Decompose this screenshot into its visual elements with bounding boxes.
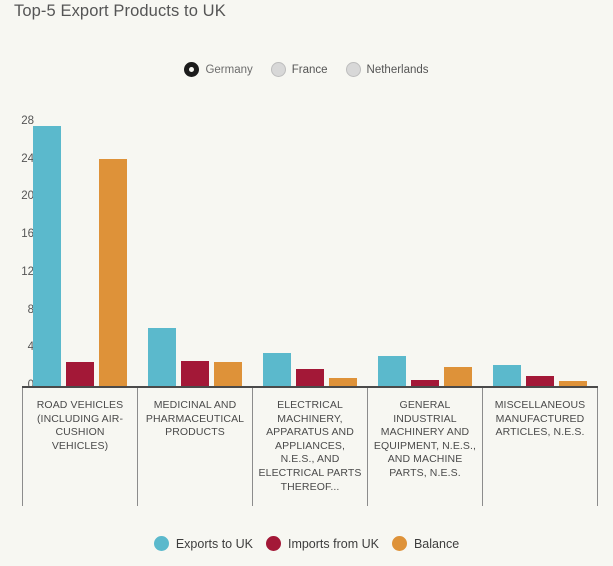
bars-layer [36, 110, 603, 386]
category-label-cell: GENERAL INDUSTRIAL MACHINERY AND EQUIPME… [367, 388, 482, 506]
y-axis-tick-label: 16 [6, 228, 34, 240]
category-label: GENERAL INDUSTRIAL MACHINERY AND EQUIPME… [373, 399, 477, 506]
y-axis-tick-label: 12 [6, 266, 34, 278]
bar-balance[interactable] [214, 362, 242, 386]
category-label-cell: ELECTRICAL MACHINERY, APPARATUS AND APPL… [252, 388, 367, 506]
y-axis-tick-label: 28 [6, 115, 34, 127]
category-label: MISCELLANEOUS MANUFACTURED ARTICLES, N.E… [488, 399, 592, 506]
bar-imports-from-uk[interactable] [296, 369, 324, 386]
bar-imports-from-uk[interactable] [66, 362, 94, 386]
category-label: ELECTRICAL MACHINERY, APPARATUS AND APPL… [258, 399, 362, 506]
bar-chart: 0481216202428 ROAD VEHICLES (INCLUDING A… [0, 0, 613, 566]
bar-imports-from-uk[interactable] [526, 376, 554, 386]
category-label: MEDICINAL AND PHARMACEUTICAL PRODUCTS [143, 399, 247, 506]
chart-legend: Exports to UKImports from UKBalance [0, 536, 613, 551]
legend-color-swatch-icon [392, 536, 407, 551]
category-label-cell: ROAD VEHICLES (INCLUDING AIR-CUSHION VEH… [22, 388, 137, 506]
bar-group [263, 110, 357, 386]
legend-item[interactable]: Exports to UK [154, 536, 253, 551]
bar-exports-to-uk[interactable] [378, 356, 406, 386]
bar-balance[interactable] [99, 159, 127, 386]
y-axis-tick-label: 8 [6, 304, 34, 316]
bar-exports-to-uk[interactable] [493, 365, 521, 386]
y-axis: 0481216202428 [0, 105, 34, 395]
category-label-row: ROAD VEHICLES (INCLUDING AIR-CUSHION VEH… [22, 388, 598, 506]
bar-group [493, 110, 587, 386]
bar-exports-to-uk[interactable] [33, 126, 61, 386]
category-label-cell: MEDICINAL AND PHARMACEUTICAL PRODUCTS [137, 388, 252, 506]
bar-exports-to-uk[interactable] [148, 328, 176, 386]
bar-exports-to-uk[interactable] [263, 353, 291, 386]
y-axis-tick-label: 4 [6, 341, 34, 353]
bar-balance[interactable] [329, 378, 357, 386]
legend-label: Imports from UK [288, 537, 379, 551]
legend-item[interactable]: Imports from UK [266, 536, 379, 551]
legend-color-swatch-icon [266, 536, 281, 551]
bar-group [148, 110, 242, 386]
legend-item[interactable]: Balance [392, 536, 459, 551]
bar-balance[interactable] [444, 367, 472, 386]
y-axis-tick-label: 20 [6, 190, 34, 202]
category-label: ROAD VEHICLES (INCLUDING AIR-CUSHION VEH… [28, 399, 132, 506]
legend-color-swatch-icon [154, 536, 169, 551]
bar-imports-from-uk[interactable] [181, 361, 209, 386]
legend-label: Exports to UK [176, 537, 253, 551]
category-label-cell: MISCELLANEOUS MANUFACTURED ARTICLES, N.E… [482, 388, 598, 506]
bar-group [378, 110, 472, 386]
legend-label: Balance [414, 537, 459, 551]
bar-group [33, 110, 127, 386]
y-axis-tick-label: 24 [6, 153, 34, 165]
